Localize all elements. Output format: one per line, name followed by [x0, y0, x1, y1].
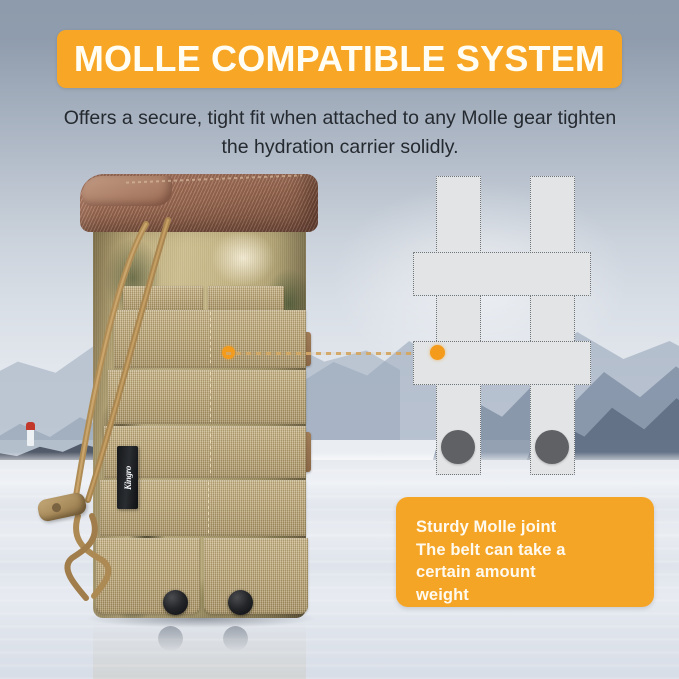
callout-line-1: Sturdy Molle joint [416, 516, 654, 539]
callout-line-4: weight [416, 584, 654, 607]
diagram-horizontal-strap-upper [413, 252, 591, 296]
molle-webbing-diagram [405, 168, 605, 480]
callout-line-2: The belt can take a [416, 539, 654, 562]
page-title: MOLLE COMPATIBLE SYSTEM [74, 38, 605, 80]
callout-line-3: certain amount [416, 561, 654, 584]
diagram-snap-left [441, 430, 475, 464]
diagram-anchor-dot [430, 345, 445, 360]
title-banner: MOLLE COMPATIBLE SYSTEM [57, 30, 622, 88]
callout-box: Sturdy Molle joint The belt can take a c… [396, 497, 654, 607]
product-image: Kingro [18, 160, 358, 660]
subtitle-text: Offers a secure, tight fit when attached… [60, 104, 620, 162]
brand-label-text: Kingro [123, 466, 133, 490]
brand-label: Kingro [117, 446, 138, 509]
diagram-snap-right [535, 430, 569, 464]
cord-lock-hole [51, 502, 62, 513]
drawstring-cord [18, 160, 358, 660]
